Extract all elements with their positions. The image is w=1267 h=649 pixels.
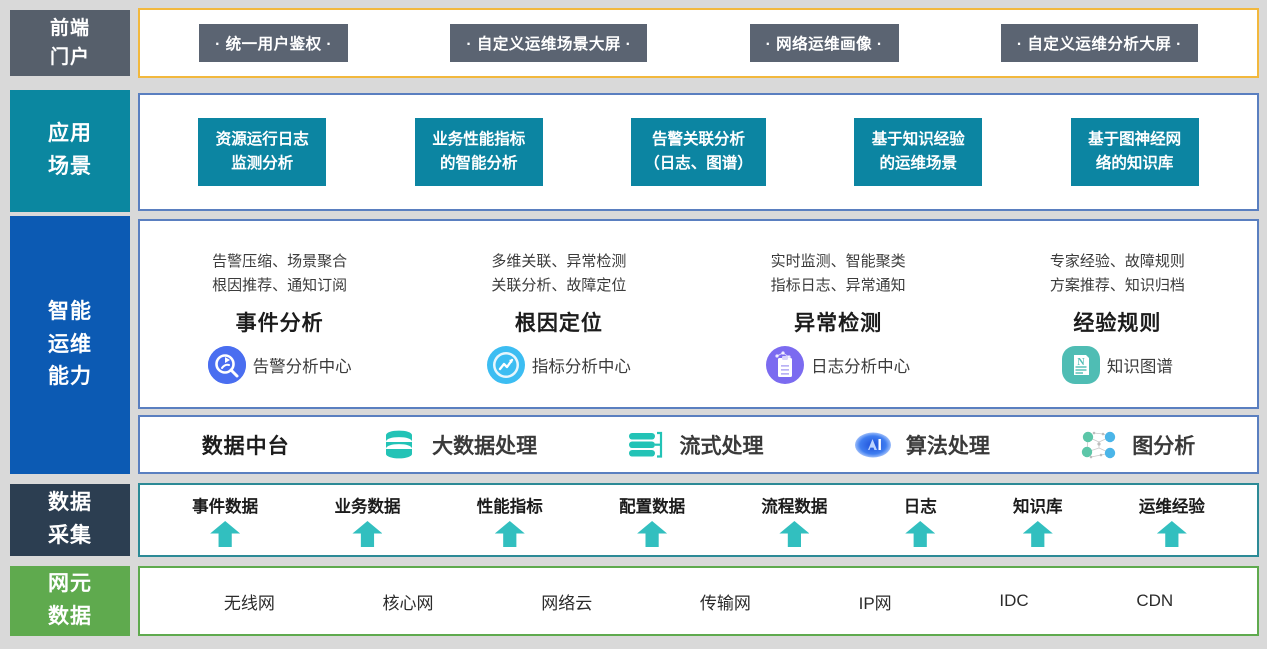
network-element-item[interactable]: IP网	[859, 589, 892, 614]
capability-line: 根因推荐、通知订阅	[212, 274, 347, 298]
scene-chip[interactable]: 业务性能指标 的智能分析	[415, 118, 543, 186]
collect-item-label: 配置数据	[619, 493, 685, 517]
capability-column-anomaly-detection: 实时监测、智能聚类 指标日志、异常通知 异常检测	[699, 221, 978, 407]
metric-analysis-icon	[487, 346, 525, 384]
row-label-aiops: 智能 运维 能力	[10, 216, 130, 474]
network-element-item[interactable]: IDC	[999, 591, 1028, 611]
collect-item[interactable]: 流程数据	[761, 493, 827, 547]
midplatform-item-algorithm[interactable]: 算法处理	[851, 428, 990, 462]
capability-line: 告警压缩、场景聚合	[212, 250, 347, 274]
scene-chip-line: 监测分析	[211, 152, 313, 176]
row-body-portal: · 统一用户鉴权 · · 自定义运维场景大屏 · · 网络运维画像 · · 自定…	[138, 8, 1259, 78]
capability-product-label: 告警分析中心	[253, 353, 352, 377]
up-arrow-icon	[637, 521, 667, 547]
capability-column-root-cause: 多维关联、异常检测 关联分析、故障定位 根因定位 指标分析中心	[419, 221, 698, 407]
network-element-item[interactable]: 核心网	[383, 589, 434, 614]
alert-analysis-icon	[208, 346, 246, 384]
row-label-network-element-data: 网元 数据	[10, 566, 130, 636]
row-label-scene-line-2: 场景	[48, 151, 92, 184]
up-arrow-icon	[905, 521, 935, 547]
up-arrow-icon	[352, 521, 382, 547]
collect-item[interactable]: 知识库	[1013, 493, 1063, 547]
collect-item-label: 运维经验	[1139, 493, 1205, 517]
knowledge-graph-icon: N	[1062, 346, 1100, 384]
midplatform-item-stream[interactable]: 流式处理	[624, 428, 763, 462]
network-element-item[interactable]: 无线网	[224, 589, 275, 614]
capability-product-label: 日志分析中心	[811, 353, 910, 377]
portal-chip[interactable]: · 统一用户鉴权 ·	[199, 24, 348, 62]
collect-item-label: 日志	[904, 493, 937, 517]
capability-line: 实时监测、智能聚类	[771, 250, 906, 274]
scene-chip-line: 的运维场景	[867, 152, 969, 176]
collect-item-label: 业务数据	[334, 493, 400, 517]
capability-column-experience-rules: 专家经验、故障规则 方案推荐、知识归档 经验规则 N 知识图谱	[978, 221, 1257, 407]
capability-title: 事件分析	[236, 307, 324, 337]
capability-title: 根因定位	[515, 307, 603, 337]
scene-chip-line: 告警关联分析	[644, 128, 753, 152]
capability-line: 关联分析、故障定位	[491, 274, 626, 298]
capability-product[interactable]: 告警分析中心	[208, 346, 352, 384]
up-arrow-icon	[210, 521, 240, 547]
row-body-network-element-data: 无线网 核心网 网络云 传输网 IP网 IDC CDN	[138, 566, 1259, 636]
portal-chip[interactable]: · 网络运维画像 ·	[750, 24, 899, 62]
capability-line: 指标日志、异常通知	[771, 274, 906, 298]
row-label-data-collection: 数据 采集	[10, 484, 130, 556]
row-label-aiops-line-1: 智能	[48, 296, 92, 329]
scene-chip[interactable]: 基于知识经验 的运维场景	[854, 118, 982, 186]
collect-item[interactable]: 运维经验	[1139, 493, 1205, 547]
midplatform-item-label: 算法处理	[906, 430, 990, 460]
scene-chip-line: 业务性能指标	[428, 128, 530, 152]
database-icon	[377, 428, 421, 462]
architecture-diagram: 前端 门户 · 统一用户鉴权 · · 自定义运维场景大屏 · · 网络运维画像 …	[0, 0, 1267, 649]
collect-item[interactable]: 配置数据	[619, 493, 685, 547]
row-label-aiops-line-3: 能力	[48, 361, 92, 394]
network-element-item[interactable]: CDN	[1136, 591, 1173, 611]
midplatform-item-label: 流式处理	[679, 430, 763, 460]
scene-chip[interactable]: 基于图神经网 络的知识库	[1071, 118, 1199, 186]
midplatform-item-graph[interactable]: 图分析	[1077, 428, 1195, 462]
capability-product[interactable]: N 知识图谱	[1062, 346, 1173, 384]
row-label-netdata-line-2: 数据	[48, 601, 92, 634]
collect-item-label: 知识库	[1013, 493, 1063, 517]
row-label-collect-line-1: 数据	[48, 487, 92, 520]
row-label-portal-line-2: 门户	[50, 43, 90, 72]
scene-chip-line: （日志、图谱）	[644, 152, 753, 176]
capability-product[interactable]: 日志分析中心	[766, 346, 910, 384]
collect-item[interactable]: 事件数据	[192, 493, 258, 547]
collect-item-label: 流程数据	[761, 493, 827, 517]
up-arrow-icon	[779, 521, 809, 547]
network-element-item[interactable]: 传输网	[700, 589, 751, 614]
row-body-data-midplatform: 数据中台 大数据处理	[138, 415, 1259, 474]
capability-column-event-analysis: 告警压缩、场景聚合 根因推荐、通知订阅 事件分析 告警分析中心	[140, 221, 419, 407]
collect-item-label: 事件数据	[192, 493, 258, 517]
capability-title: 经验规则	[1073, 307, 1161, 337]
portal-chip[interactable]: · 自定义运维分析大屏 ·	[1001, 24, 1198, 62]
row-label-portal-line-1: 前端	[50, 14, 90, 43]
network-element-item[interactable]: 网络云	[541, 589, 592, 614]
scene-chip[interactable]: 告警关联分析 （日志、图谱）	[631, 118, 766, 186]
scene-chip[interactable]: 资源运行日志 监测分析	[198, 118, 326, 186]
row-label-portal: 前端 门户	[10, 10, 130, 76]
ai-icon	[851, 428, 895, 462]
capability-product-label: 指标分析中心	[532, 353, 631, 377]
midplatform-item-label: 图分析	[1132, 430, 1195, 460]
capability-product-label: 知识图谱	[1107, 353, 1173, 377]
scene-chip-line: 基于图神经网	[1084, 128, 1186, 152]
collect-item[interactable]: 业务数据	[334, 493, 400, 547]
capability-product[interactable]: 指标分析中心	[487, 346, 631, 384]
midplatform-title: 数据中台	[202, 430, 290, 460]
row-label-scene-line-1: 应用	[48, 118, 92, 151]
row-label-aiops-line-2: 运维	[48, 329, 92, 362]
scene-chip-line: 资源运行日志	[211, 128, 313, 152]
up-arrow-icon	[495, 521, 525, 547]
row-label-scene: 应用 场景	[10, 90, 130, 212]
scene-chip-line: 基于知识经验	[867, 128, 969, 152]
row-label-collect-line-2: 采集	[48, 520, 92, 553]
row-label-netdata-line-1: 网元	[48, 568, 92, 601]
row-body-scene: 资源运行日志 监测分析 业务性能指标 的智能分析 告警关联分析 （日志、图谱） …	[138, 93, 1259, 211]
collect-item-label: 性能指标	[477, 493, 543, 517]
graph-network-icon	[1077, 428, 1121, 462]
midplatform-item-label: 大数据处理	[432, 430, 537, 460]
scene-chip-line: 的智能分析	[428, 152, 530, 176]
scene-chip-line: 络的知识库	[1084, 152, 1186, 176]
log-analysis-icon	[766, 346, 804, 384]
capability-line: 方案推荐、知识归档	[1050, 274, 1185, 298]
capability-line: 多维关联、异常检测	[491, 250, 626, 274]
capability-title: 异常检测	[794, 307, 882, 337]
stream-icon	[624, 428, 668, 462]
collect-item[interactable]: 日志	[904, 493, 937, 547]
row-body-aiops: 告警压缩、场景聚合 根因推荐、通知订阅 事件分析 告警分析中心 多维关联、异常	[138, 219, 1259, 409]
row-body-data-collection: 事件数据 业务数据 性能指标 配置数据 流程数据 日志 知识库 运维经验	[138, 483, 1259, 557]
midplatform-item-bigdata[interactable]: 大数据处理	[377, 428, 537, 462]
up-arrow-icon	[1157, 521, 1187, 547]
collect-item[interactable]: 性能指标	[477, 493, 543, 547]
up-arrow-icon	[1023, 521, 1053, 547]
portal-chip[interactable]: · 自定义运维场景大屏 ·	[450, 24, 647, 62]
capability-line: 专家经验、故障规则	[1050, 250, 1185, 274]
